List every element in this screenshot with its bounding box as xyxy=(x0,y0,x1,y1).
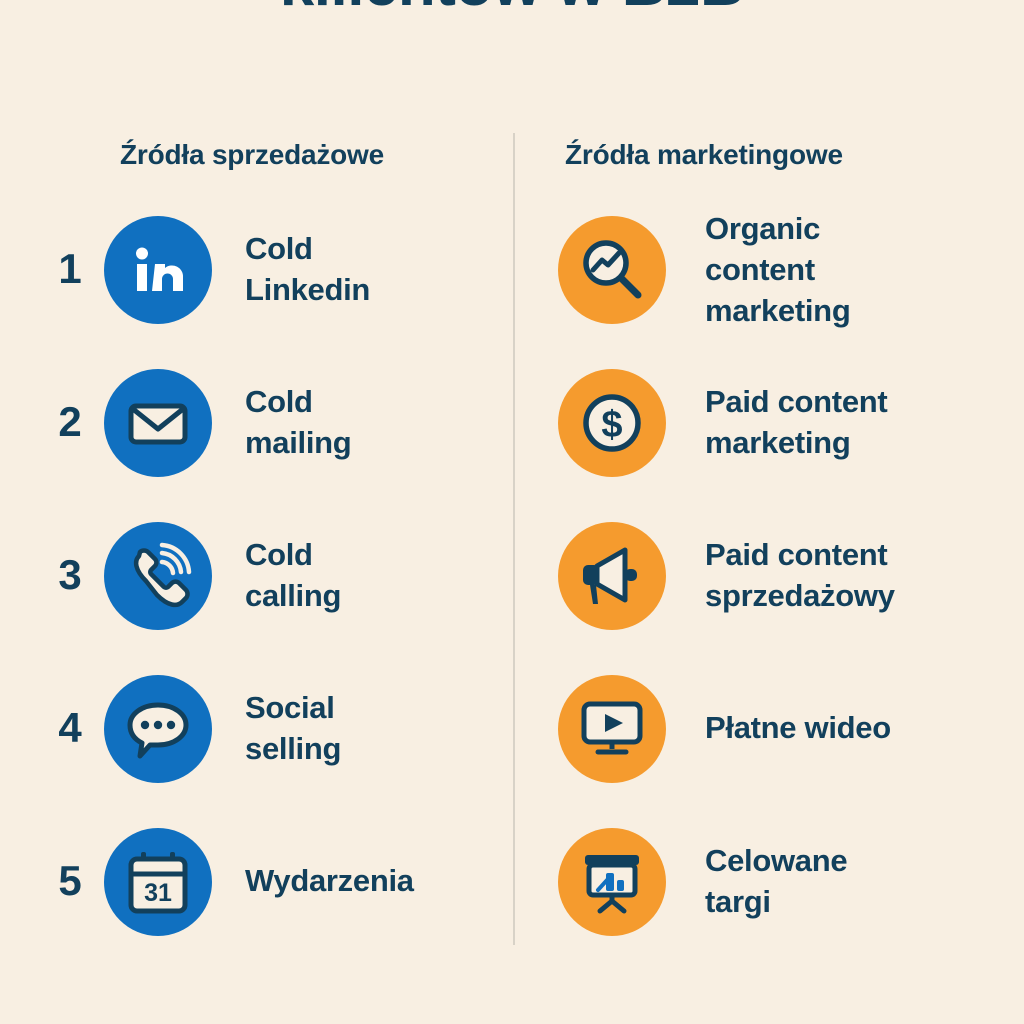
list-item-label: Social selling xyxy=(245,687,341,769)
list-item[interactable]: 2 Cold mailing xyxy=(0,369,500,522)
linkedin-icon xyxy=(104,216,212,324)
list-item-label: Organic content marketing xyxy=(705,208,850,331)
label-line: Płatne wideo xyxy=(705,707,891,748)
envelope-icon xyxy=(104,369,212,477)
column-header-marketing: Źródła marketingowe xyxy=(565,139,843,171)
column-headers: Źródła sprzedażowe Źródła marketingowe xyxy=(0,139,1024,179)
megaphone-icon xyxy=(558,522,666,630)
list-item-label: Paid content sprzedażowy xyxy=(705,534,895,616)
list-item[interactable]: Organic content marketing xyxy=(540,216,1024,369)
presentation-chart-icon xyxy=(558,828,666,936)
list-item-label: Płatne wideo xyxy=(705,707,891,748)
calendar-31-icon: 31 xyxy=(104,828,212,936)
page-title-line: kliientów w B2B xyxy=(0,0,1024,22)
list-item[interactable]: 3 Cold calling xyxy=(0,522,500,675)
label-line: Linkedin xyxy=(245,269,370,310)
dollar-circle-icon: $ xyxy=(558,369,666,477)
label-line: Paid content xyxy=(705,534,895,575)
phone-call-icon xyxy=(104,522,212,630)
label-line: sprzedażowy xyxy=(705,575,895,616)
list-item[interactable]: Paid content sprzedażowy xyxy=(540,522,1024,675)
list-item[interactable]: $ Paid content marketing xyxy=(540,369,1024,522)
label-line: Wydarzenia xyxy=(245,860,414,901)
label-line: Cold xyxy=(245,228,370,269)
magnifier-trend-icon xyxy=(558,216,666,324)
label-line: Social xyxy=(245,687,341,728)
label-line: content xyxy=(705,249,850,290)
label-line: marketing xyxy=(705,290,850,331)
column-divider xyxy=(513,133,515,945)
marketing-sources-column: Organic content marketing $ Paid content… xyxy=(540,216,1024,981)
label-line: selling xyxy=(245,728,341,769)
label-line: mailing xyxy=(245,422,351,463)
rank-number: 1 xyxy=(52,246,88,292)
list-item[interactable]: 1 Cold Linkedin xyxy=(0,216,500,369)
list-item-label: Cold Linkedin xyxy=(245,228,370,310)
rank-number: 5 xyxy=(52,858,88,904)
list-item-label: Cold mailing xyxy=(245,381,351,463)
list-item-label: Wydarzenia xyxy=(245,860,414,901)
list-item-label: Celowane targi xyxy=(705,840,847,922)
label-line: Paid content xyxy=(705,381,887,422)
rank-number: 2 xyxy=(52,399,88,445)
speech-bubble-icon xyxy=(104,675,212,783)
label-line: Organic xyxy=(705,208,850,249)
label-line: Celowane xyxy=(705,840,847,881)
list-item[interactable]: Celowane targi xyxy=(540,828,1024,981)
label-line: Cold xyxy=(245,534,341,575)
label-line: calling xyxy=(245,575,341,616)
video-monitor-icon xyxy=(558,675,666,783)
svg-text:$: $ xyxy=(601,404,622,446)
rank-number: 4 xyxy=(52,705,88,751)
label-line: marketing xyxy=(705,422,887,463)
infographic-canvas: kliientów w B2B Źródła sprzedażowe Źródł… xyxy=(0,0,1024,1024)
rank-number: 3 xyxy=(52,552,88,598)
svg-text:31: 31 xyxy=(144,879,172,907)
label-line: targi xyxy=(705,881,847,922)
page-title: kliientów w B2B xyxy=(0,0,1024,22)
list-item[interactable]: Płatne wideo xyxy=(540,675,1024,828)
list-item[interactable]: 5 31 Wydarzenia xyxy=(0,828,500,981)
sales-sources-column: 1 Cold Linkedin 2 xyxy=(0,216,500,981)
list-item-label: Cold calling xyxy=(245,534,341,616)
column-header-sales: Źródła sprzedażowe xyxy=(120,139,384,171)
label-line: Cold xyxy=(245,381,351,422)
list-item[interactable]: 4 Social selling xyxy=(0,675,500,828)
list-item-label: Paid content marketing xyxy=(705,381,887,463)
